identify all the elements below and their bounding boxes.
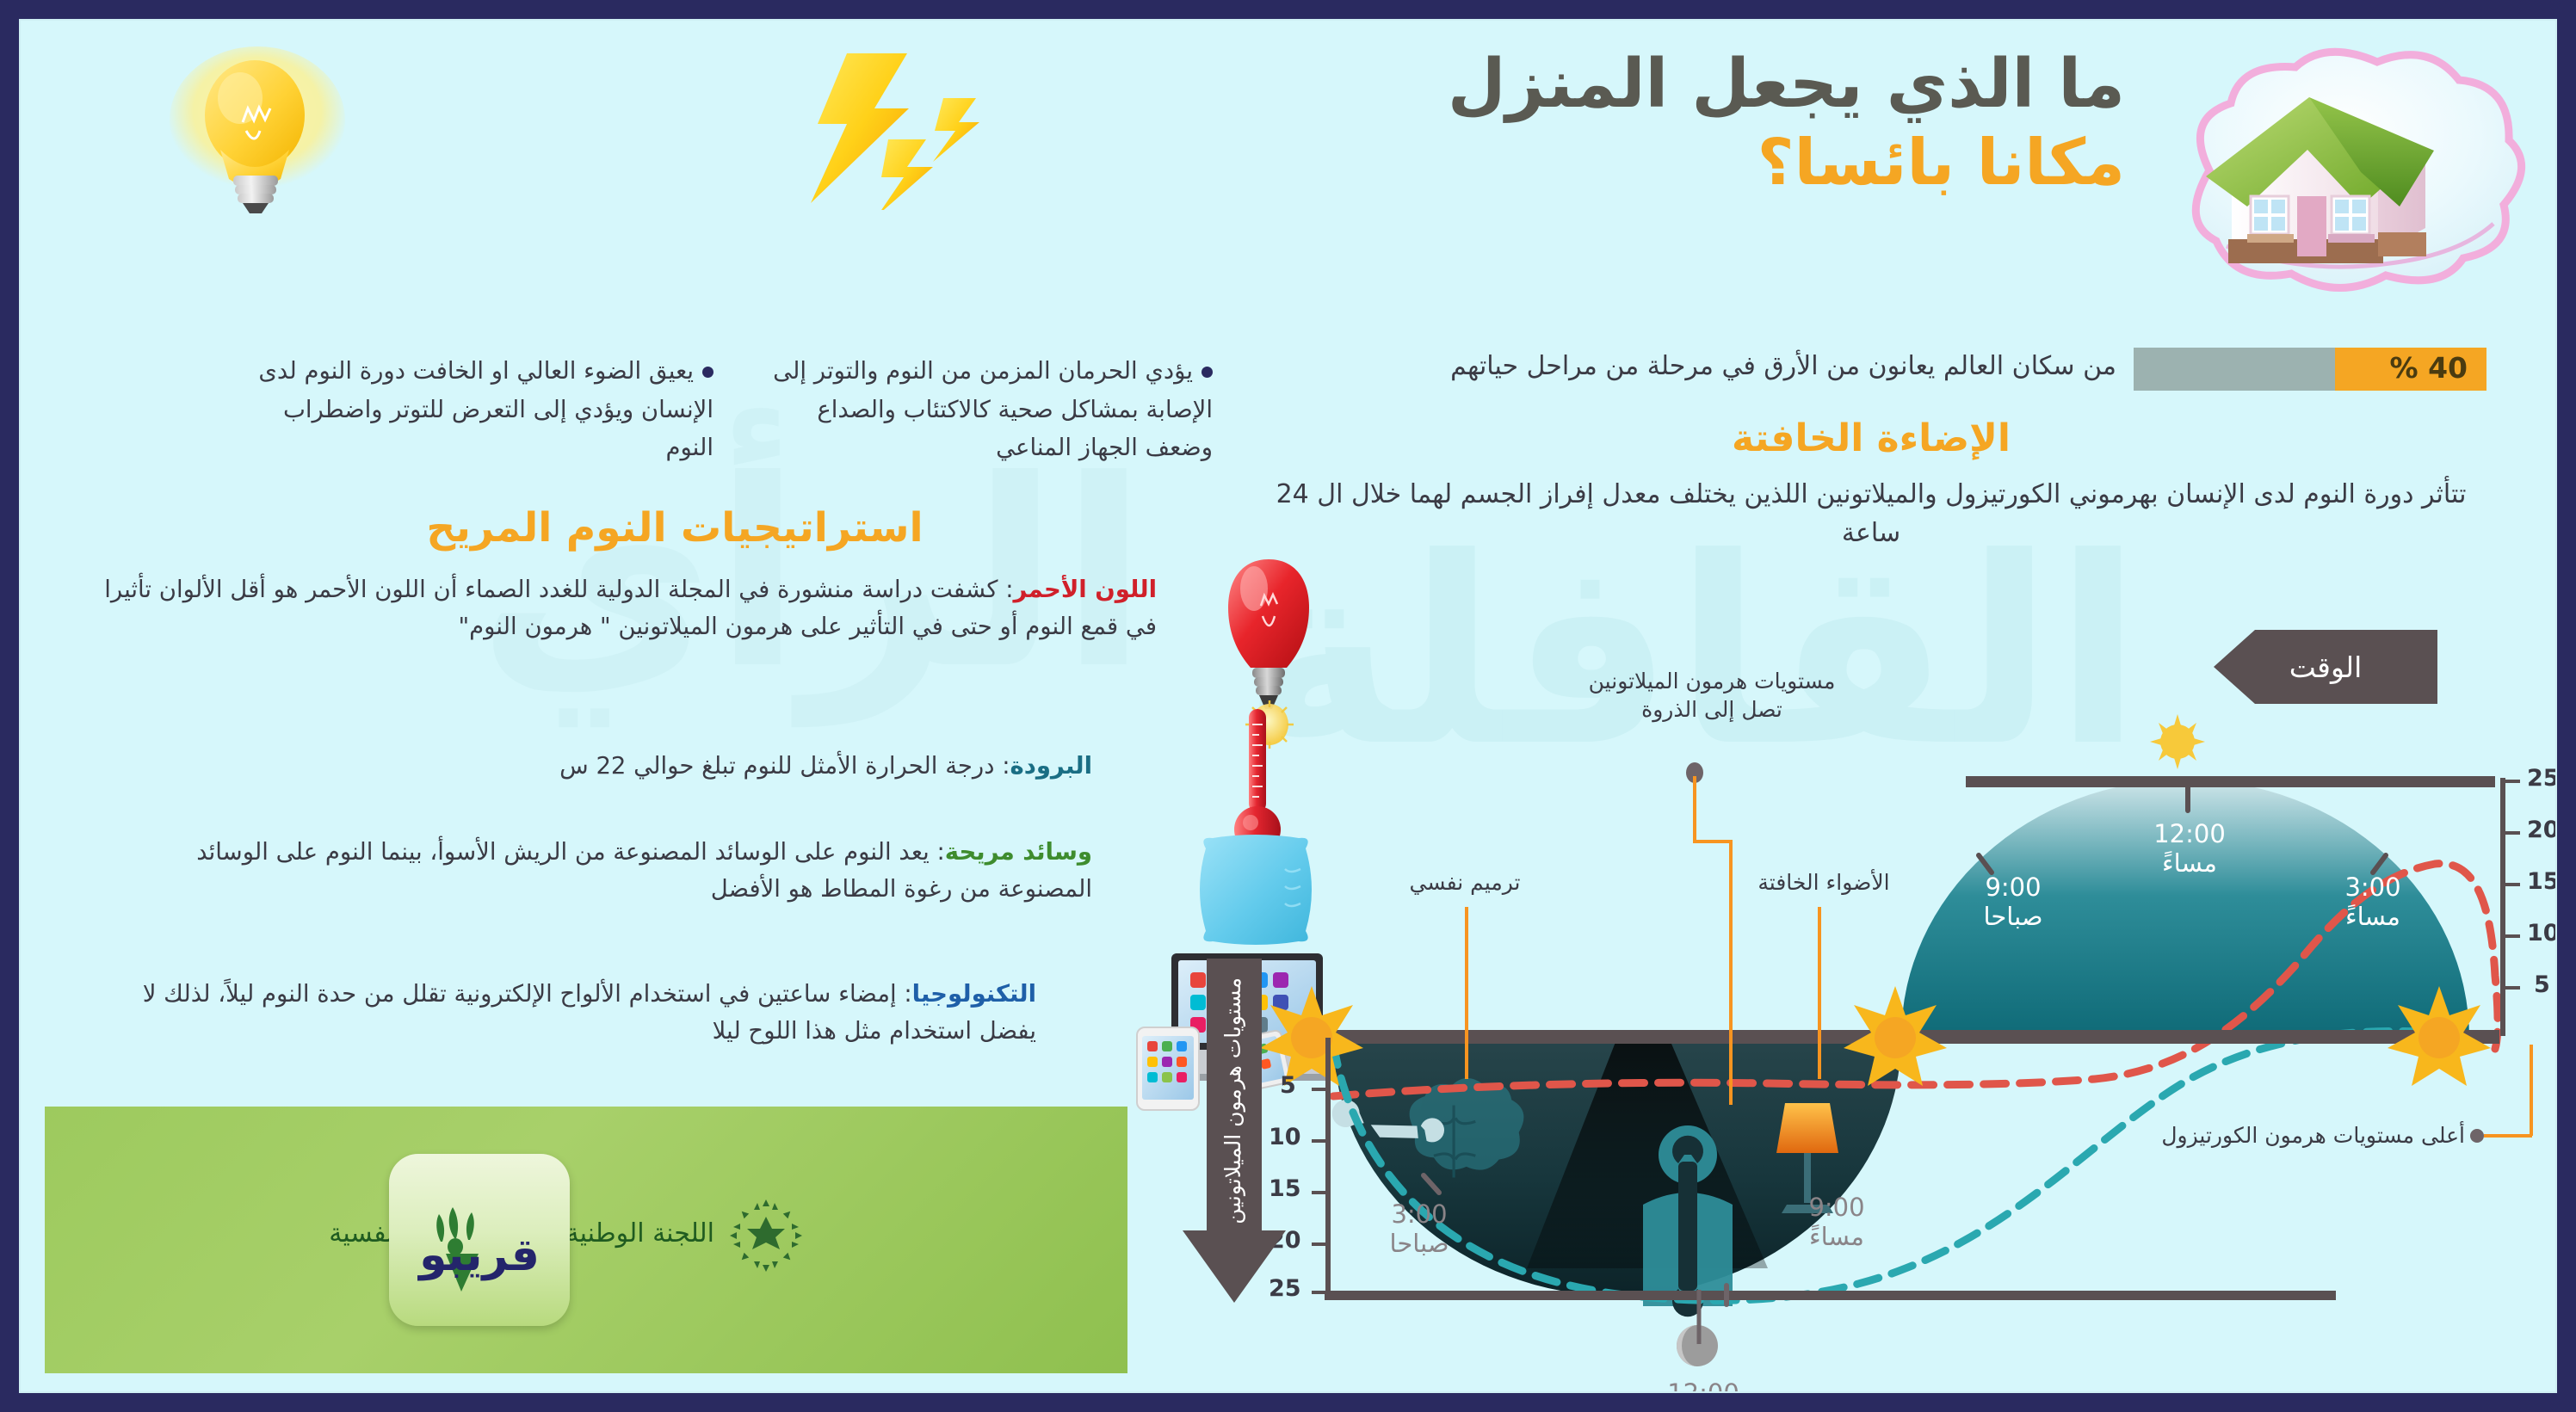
night-time-3am-hour: 3:00 bbox=[1346, 1199, 1492, 1229]
night-time-9pm-period: مساءً bbox=[1764, 1222, 1910, 1251]
dim-lighting-body: تتأثر دورة النوم لدى الإنسان بهرموني الك… bbox=[1256, 475, 2486, 552]
dim-lighting-heading: الإضاءة الخافتة bbox=[1256, 416, 2486, 460]
melatonin-axis-arrow: مستويات هرمون الميلاتونين bbox=[1183, 959, 1286, 1303]
upper-tick-25 bbox=[2505, 780, 2520, 783]
melatonin-axis-label: مستويات هرمون الميلاتونين bbox=[1220, 977, 1245, 1224]
lower-tick-20 bbox=[1312, 1242, 1327, 1246]
strategy-pillows: وسائد مريحة: يعد النوم على الوسائد المصن… bbox=[98, 834, 1092, 908]
strategy-key: التكنولوجيا bbox=[912, 980, 1036, 1008]
callout-cortisol-leader-h bbox=[2484, 1134, 2532, 1138]
day-time-12pm-hour: 12:00 bbox=[2116, 819, 2263, 848]
night-time-12am: 12:00 صباحا ترميم جسدي bbox=[1626, 1378, 1781, 1393]
infographic-sheet: القافلة الرأي bbox=[19, 19, 2557, 1393]
insomnia-stat-bar-fill: % 40 bbox=[2335, 348, 2486, 391]
strategy-key: اللون الأحمر bbox=[1013, 576, 1157, 603]
strategy-text: : كشفت دراسة منشورة في المجلة الدولية لل… bbox=[104, 576, 1157, 640]
insomnia-stat-row: من سكان العالم يعانون من الأرق في مرحلة … bbox=[1256, 348, 2486, 396]
upper-tick-5 bbox=[2505, 986, 2520, 990]
callout-melatonin-leader-v1 bbox=[1693, 776, 1696, 843]
strategy-text: : إمضاء ساعتين في استخدام الألواح الإلكت… bbox=[143, 980, 1036, 1045]
bullet-item-light-levels: يعيق الضوء العالي او الخافت دورة النوم ل… bbox=[232, 352, 713, 467]
upper-tick-10 bbox=[2505, 934, 2520, 938]
saudi-seal-icon bbox=[730, 1199, 802, 1272]
night-time-12am-hour: 12:00 bbox=[1626, 1378, 1781, 1393]
day-time-3pm-period: مساءً bbox=[2300, 902, 2446, 931]
upper-tick-label-5: 5 bbox=[2534, 971, 2550, 998]
day-time-9am-hour: 9:00 bbox=[1940, 872, 2086, 902]
night-time-3am-period: صباحا bbox=[1346, 1229, 1492, 1258]
strategy-technology: التكنولوجيا: إمضاء ساعتين في استخدام الأ… bbox=[107, 976, 1036, 1050]
callout-psych-restoration: ترميم نفسي bbox=[1362, 869, 1568, 897]
house-in-cloud-icon bbox=[2132, 33, 2536, 317]
insomnia-stat-value: % 40 bbox=[2390, 351, 2468, 385]
upper-y-axis bbox=[2500, 778, 2505, 1036]
night-time-9pm: 9:00 مساءً bbox=[1764, 1193, 1910, 1251]
lower-y-axis bbox=[1325, 1038, 1331, 1296]
lower-tick-10 bbox=[1312, 1139, 1327, 1143]
day-time-12pm-period: مساءً bbox=[2116, 848, 2263, 878]
title-line-1: ما الذي يجعل المنزل bbox=[1161, 45, 2125, 124]
strategy-text: : درجة الحرارة الأمثل للنوم تبلغ حوالي 2… bbox=[559, 752, 1010, 780]
callout-dim-lights-leader bbox=[1818, 907, 1821, 1079]
day-time-12pm: 12:00 مساءً bbox=[2116, 819, 2263, 878]
callout-dim-lights: الأضواء الخافتة bbox=[1716, 869, 1931, 897]
qaribo-logo-word: قريبو bbox=[389, 1230, 570, 1281]
day-time-9am-period: صباحا bbox=[1940, 902, 2086, 931]
lower-tick-15 bbox=[1312, 1191, 1327, 1194]
upper-tick-label-25: 25 bbox=[2527, 765, 2557, 792]
bullet-text: يعيق الضوء العالي او الخافت دورة النوم ل… bbox=[258, 357, 713, 461]
callout-cortisol-peak: أعلى مستويات هرمون الكورتيزول bbox=[2155, 1122, 2465, 1150]
callout-melatonin-leader-h bbox=[1693, 840, 1733, 843]
upper-tick-label-10: 10 bbox=[2527, 920, 2557, 946]
strategy-key: البرودة bbox=[1010, 752, 1092, 780]
strategy-key: وسائد مريحة bbox=[945, 838, 1092, 866]
upper-tick-15 bbox=[2505, 883, 2520, 886]
day-time-9am: 9:00 صباحا bbox=[1940, 872, 2086, 931]
qaribo-logo-badge[interactable]: قريبو bbox=[389, 1154, 570, 1326]
callout-cortisol-dot bbox=[2470, 1129, 2484, 1143]
strategies-heading: استراتيجيات النوم المريح bbox=[137, 504, 1213, 552]
callout-melatonin-peak: مستويات هرمون الميلاتونين تصل إلى الذروة bbox=[1566, 668, 1858, 724]
upper-tick-label-20: 20 bbox=[2527, 817, 2557, 843]
callout-cortisol-leader-v bbox=[2530, 1045, 2533, 1136]
hormone-cycle-chart: 25 20 15 10 5 5 10 15 20 25 9:00 صباحا 1… bbox=[1165, 614, 2557, 1389]
lightning-bolts-icon bbox=[795, 46, 1019, 210]
infographic-canvas: القافلة الرأي bbox=[0, 0, 2576, 1412]
upper-tick-20 bbox=[2505, 831, 2520, 835]
upper-tick-label-15: 15 bbox=[2527, 868, 2557, 895]
strategy-coolness: البرودة: درجة الحرارة الأمثل للنوم تبلغ … bbox=[128, 748, 1092, 785]
footer-banner: اللجنة الوطنية لتعزيز الصحة النفسية bbox=[45, 1107, 1127, 1373]
lower-tick-25 bbox=[1312, 1291, 1327, 1294]
bullet-dot-icon bbox=[1202, 367, 1213, 378]
night-time-9pm-hour: 9:00 bbox=[1764, 1193, 1910, 1222]
glowing-lightbulb-icon bbox=[150, 45, 365, 217]
lower-tick-5 bbox=[1312, 1088, 1327, 1091]
insomnia-stat-bar-track: % 40 bbox=[2134, 348, 2486, 391]
title-line-2: مكانا بائسا؟ bbox=[1161, 126, 2125, 200]
night-time-3am: 3:00 صباحا bbox=[1346, 1199, 1492, 1258]
day-time-3pm-hour: 3:00 bbox=[2300, 872, 2446, 902]
insomnia-stat-text: من سكان العالم يعانون من الأرق في مرحلة … bbox=[1450, 351, 2116, 381]
time-axis-label: الوقت bbox=[2214, 630, 2437, 704]
bullet-item-chronic-deprivation: يؤدي الحرمان المزمن من النوم والتوتر إلى… bbox=[748, 352, 1213, 467]
bullet-text: يؤدي الحرمان المزمن من النوم والتوتر إلى… bbox=[773, 357, 1213, 461]
day-time-3pm: 3:00 مساءً bbox=[2300, 872, 2446, 931]
bullet-dot-icon bbox=[702, 367, 713, 378]
page-title: ما الذي يجعل المنزل مكانا بائسا؟ bbox=[1161, 45, 2125, 200]
callout-psych-leader bbox=[1465, 907, 1468, 1079]
strategy-red-color: اللون الأحمر: كشفت دراسة منشورة في المجل… bbox=[98, 571, 1157, 645]
time-axis-arrow: الوقت bbox=[2214, 630, 2437, 704]
